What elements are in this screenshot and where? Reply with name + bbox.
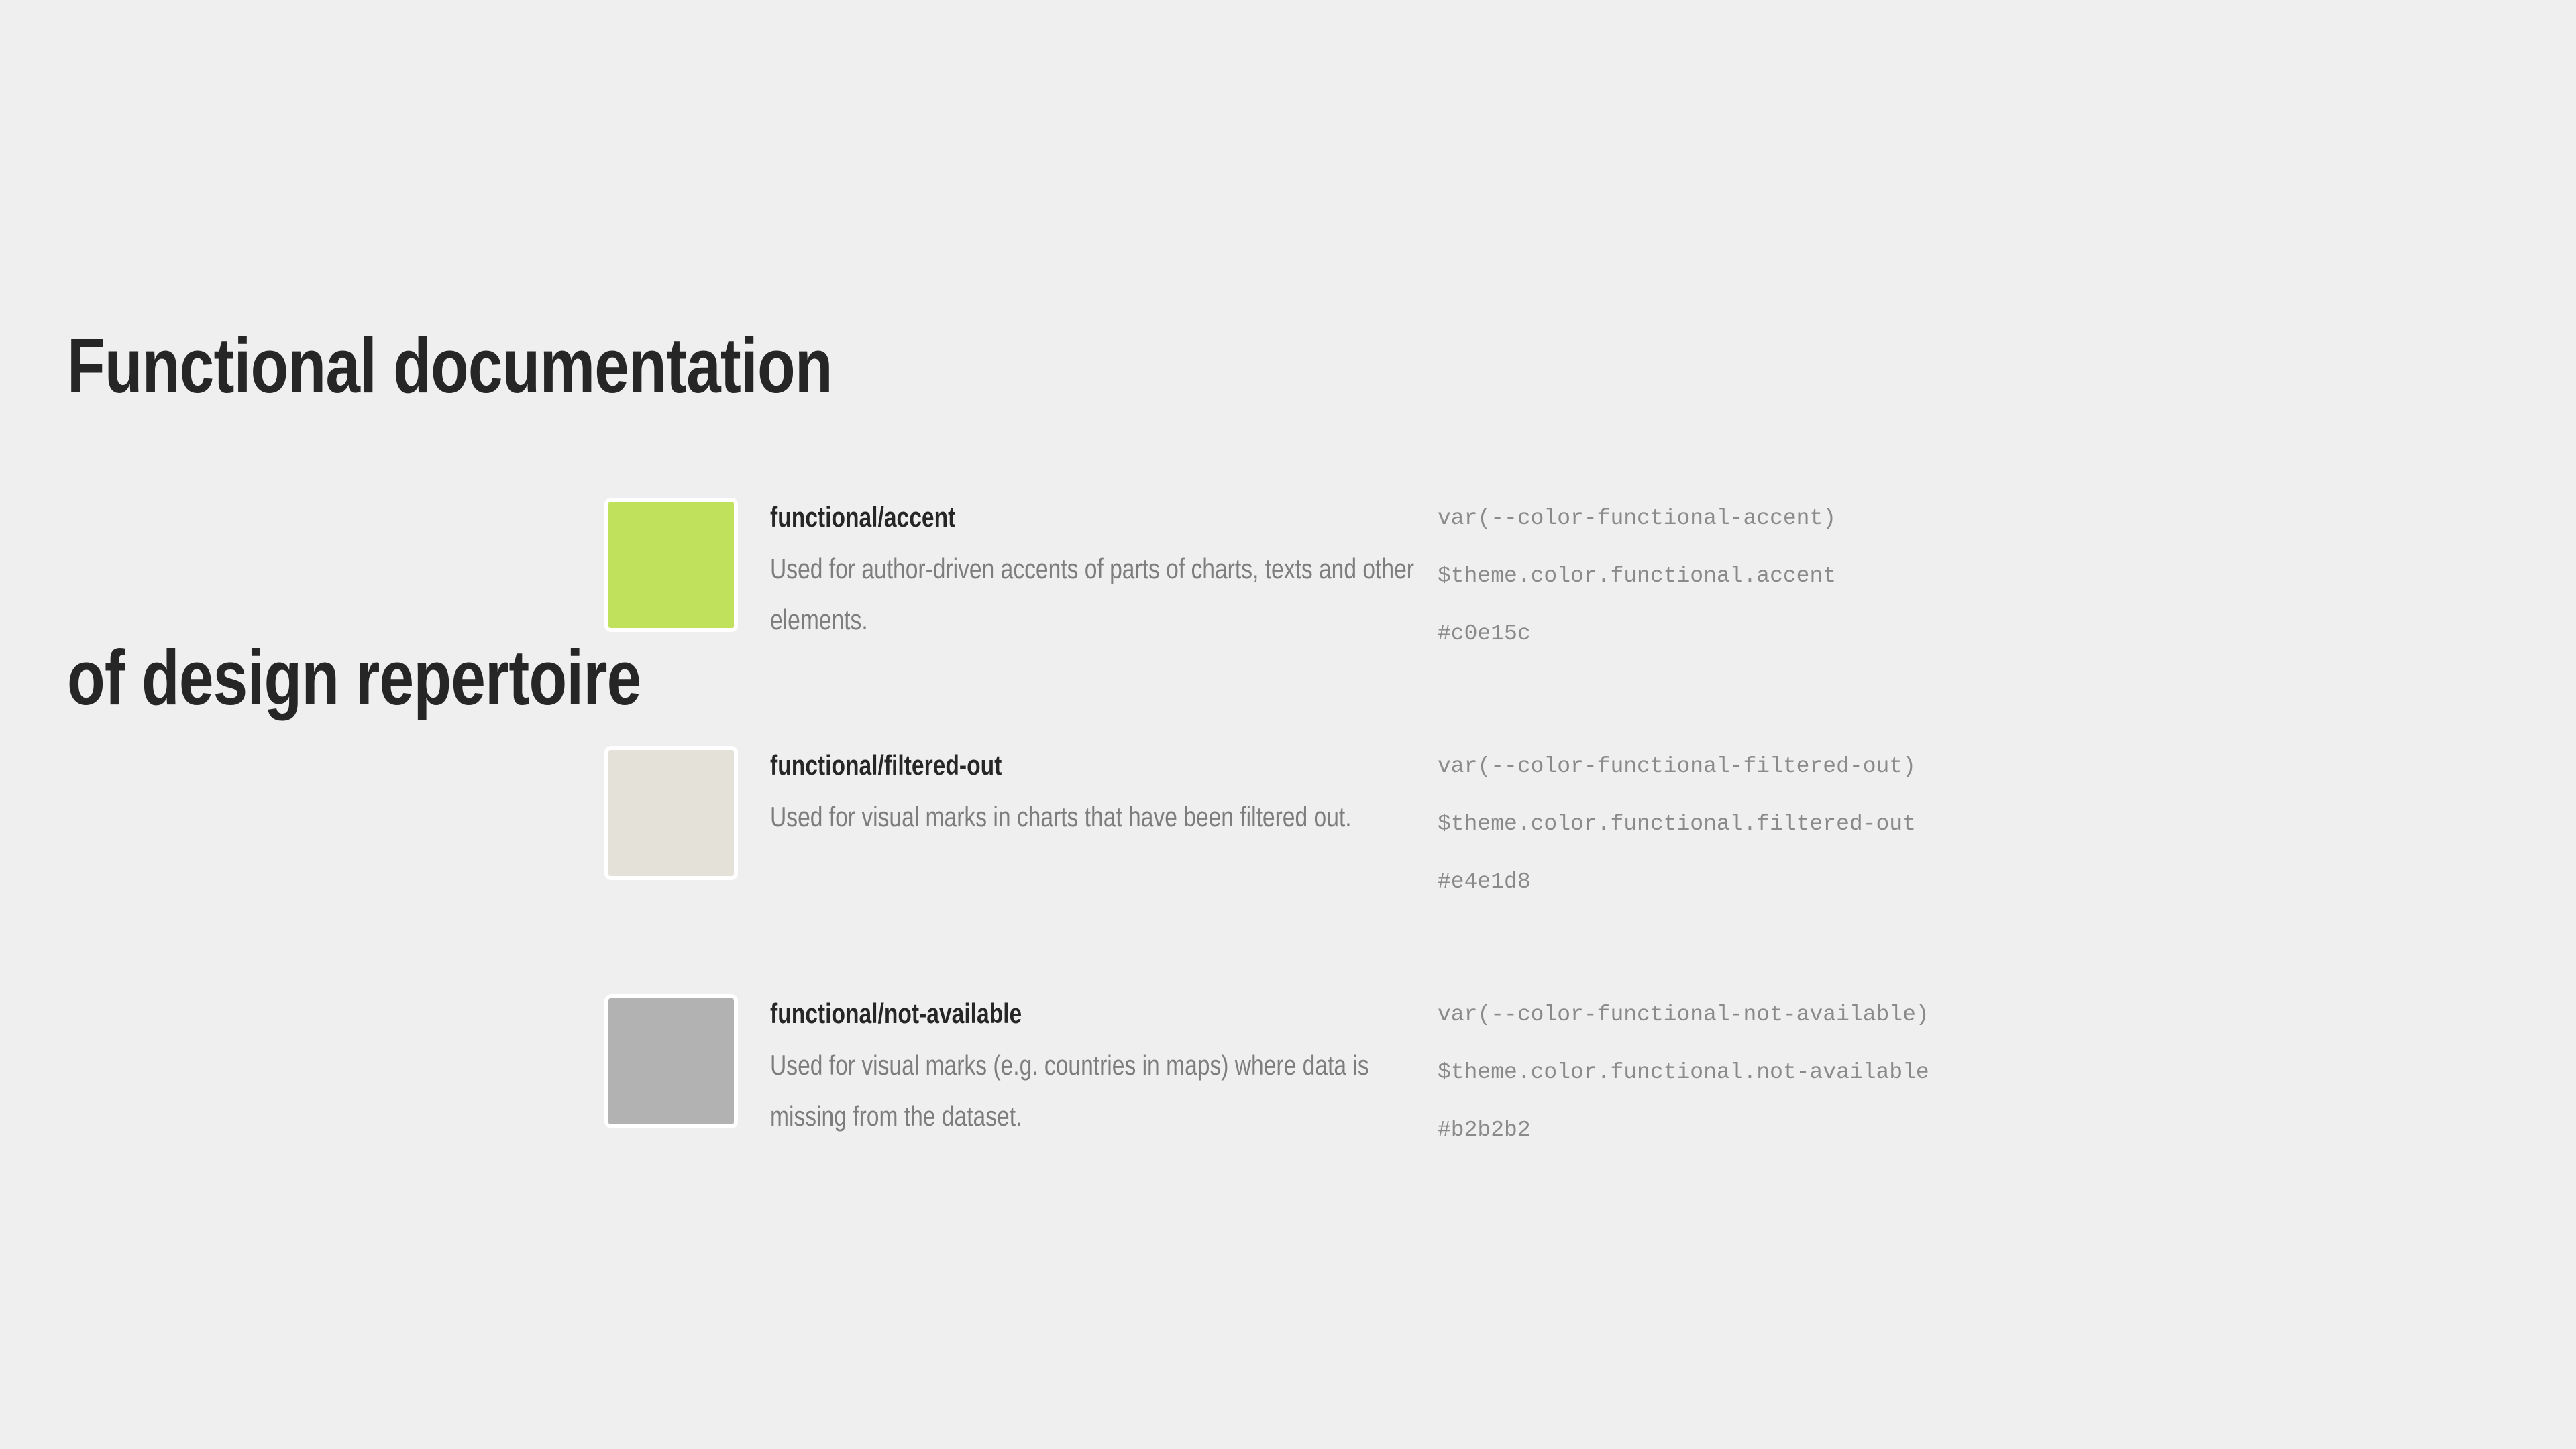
css-var-token[interactable]: var(--color-functional-accent) [1438,490,1836,547]
theme-token[interactable]: $theme.color.functional.filtered-out [1438,796,1916,853]
color-swatch-row: functional/filtered-out Used for visual … [0,746,2576,994]
color-swatch-row: functional/not-available Used for visual… [0,994,2576,1242]
hex-token[interactable]: #b2b2b2 [1438,1102,1929,1159]
color-swatch-tokens: var(--color-functional-not-available) $t… [1438,986,1929,1159]
color-swatch-fill [608,998,734,1124]
color-swatch-fill [608,502,734,628]
theme-token[interactable]: $theme.color.functional.not-available [1438,1044,1929,1102]
color-swatch-info: functional/filtered-out Used for visual … [770,746,1428,843]
hex-token[interactable]: #c0e15c [1438,605,1836,663]
css-var-token[interactable]: var(--color-functional-filtered-out) [1438,738,1916,796]
color-swatch-tokens: var(--color-functional-filtered-out) $th… [1438,738,1916,911]
css-var-token[interactable]: var(--color-functional-not-available) [1438,986,1929,1044]
color-swatch-info: functional/not-available Used for visual… [770,994,1428,1142]
color-swatch-name: functional/not-available [770,994,1296,1033]
color-swatch-name: functional/filtered-out [770,746,1296,785]
color-swatch-row: functional/accent Used for author-driven… [0,498,2576,746]
color-swatch-name: functional/accent [770,498,1296,537]
color-swatch-list: functional/accent Used for author-driven… [0,498,2576,1242]
color-swatch-chip[interactable] [604,746,738,880]
color-swatch-info: functional/accent Used for author-driven… [770,498,1428,645]
color-swatch-chip[interactable] [604,994,738,1128]
color-swatch-chip[interactable] [604,498,738,632]
page-title-line-1: Functional documentation [67,314,833,418]
color-swatch-fill [608,750,734,876]
hex-token[interactable]: #e4e1d8 [1438,853,1916,911]
color-swatch-tokens: var(--color-functional-accent) $theme.co… [1438,490,1836,663]
theme-token[interactable]: $theme.color.functional.accent [1438,547,1836,605]
color-swatch-description: Used for visual marks in charts that hav… [770,792,1430,843]
color-swatch-description: Used for visual marks (e.g. countries in… [770,1040,1430,1142]
color-swatch-description: Used for author-driven accents of parts … [770,543,1430,645]
